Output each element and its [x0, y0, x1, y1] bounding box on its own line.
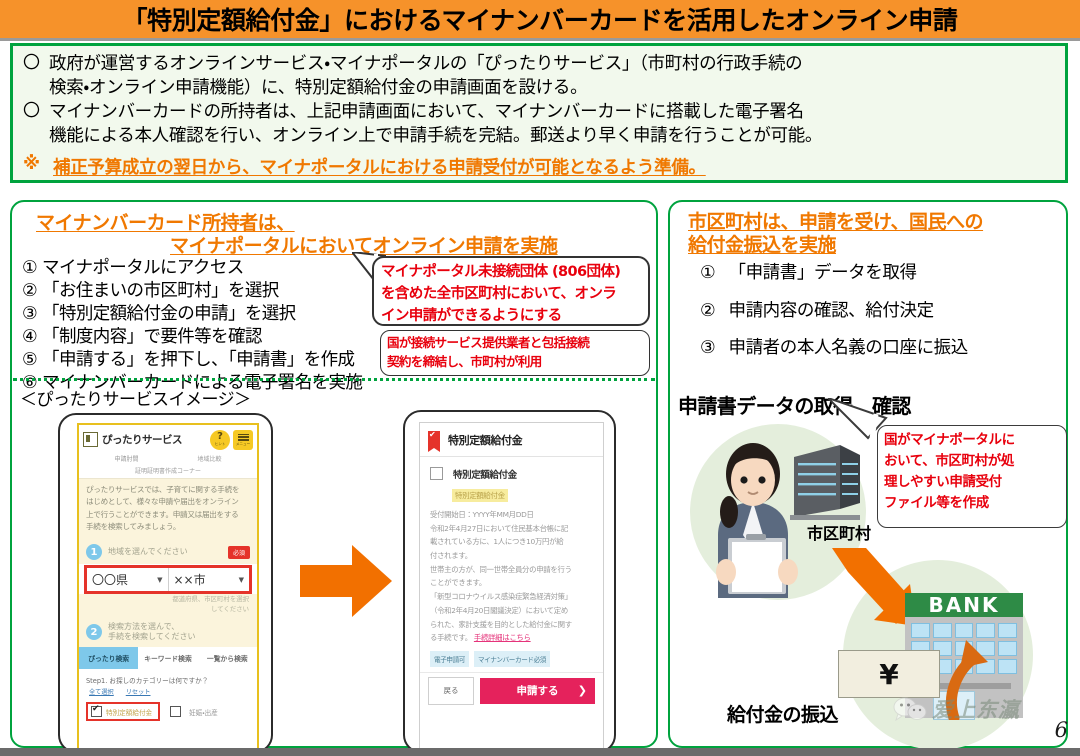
description-line: （令和2年4月20日閣議決定）において定め	[430, 604, 594, 618]
intro-line: 上で行うことができます。申請又は届出をする	[86, 509, 250, 521]
city-hall-label: 市区町村	[807, 520, 871, 544]
phone-mockup-search: ぴったりサービス ? ヒント メニュー 申請肘間 地域比較 証明証明書作成コーナ…	[58, 413, 273, 753]
bullet-body: マイナンバーカードの所持者は、上記申請画面において、マイナンバーカードに搭載した…	[49, 100, 1057, 148]
bullet-mark: 〇	[23, 100, 49, 123]
bank-window	[998, 659, 1017, 674]
bottom-bar	[0, 748, 1080, 756]
step-2-label: 検索方法を選んで、 手続を検索してください	[108, 622, 250, 642]
step-1-label: 地域を選んでください	[108, 547, 228, 557]
submit-button[interactable]: 申請する ❯	[480, 678, 595, 704]
app-logo-icon	[83, 432, 98, 447]
application-item-row[interactable]: 特別定額給付金	[420, 457, 603, 483]
description-line: られた、家計支援を目的とした給付金に関す	[430, 618, 594, 632]
phone-a-header: ぴったりサービス ? ヒント メニュー	[79, 425, 257, 452]
wechat-logo-icon	[893, 697, 927, 721]
search-tabs[interactable]: ぴったり検索 キーワード検索 一覧から検索	[79, 647, 257, 669]
breadcrumb-item[interactable]: 申請肘間	[114, 454, 138, 463]
callout-unconnected-orgs: マイナポータル未接続団体 (806団体) を含めた全市区町村において、オンラ イ…	[372, 256, 650, 326]
callout-line: ファイル等を作成	[884, 493, 1060, 514]
illustration-callout: 国がマイナポータルに おいて、市区町村が処 理しやすい申請受付 ファイル等を作成	[877, 425, 1067, 528]
step-text: 「申請書」データを取得	[728, 263, 916, 283]
bank-window	[933, 623, 952, 638]
callout-line: イン申請ができるようにする	[381, 306, 641, 328]
category-label-maternity: 妊娠・出産	[189, 707, 218, 717]
category-checkbox-row: 特別定額給付金 妊娠・出産	[79, 700, 257, 723]
bank-sign: BANK	[905, 593, 1023, 617]
service-image-label: ＜ぴったりサービスイメージ＞	[20, 385, 251, 410]
title-divider	[0, 38, 1080, 41]
intro-line: ぴったりサービスでは、子育てに関する手続を	[86, 484, 250, 496]
summary-note: ※ 補正予算成立の翌日から、マイナポータルにおける申請受付が可能となるよう準備。	[23, 154, 1057, 179]
chevron-down-icon: ▼	[239, 576, 244, 584]
callout-line: 理しやすい申請受付	[884, 472, 1060, 493]
summary-bullet: 〇 政府が運営するオンラインサービス・マイナポータルの「ぴったりサービス」（市町…	[23, 52, 1057, 100]
description-line: 令和2年4月27日において住民基本台帳に記	[430, 522, 594, 536]
application-item-tag: 特別定額給付金	[452, 489, 508, 502]
prefecture-select[interactable]: 〇〇県 ▼	[87, 568, 169, 591]
phone-b-title: 特別定額給付金	[448, 432, 522, 448]
right-panel-heading-line2: 給付金振込を実施	[688, 230, 836, 257]
bullet-line-text: 機能による本人確認を行い、オンライン上で申請手続を完結。郵送より早く申請を行うこ…	[49, 124, 1057, 148]
city-select[interactable]: ××市 ▼	[169, 568, 250, 591]
tab-keyword-search[interactable]: キーワード検索	[138, 647, 197, 669]
callout-line: 契約を締結し、市町村が利用	[387, 352, 643, 371]
description-last-line: る手続です。 手続詳細はこちら	[430, 631, 594, 645]
details-link[interactable]: 手続詳細はこちら	[474, 633, 531, 642]
right-panel-step-list: ① 「申請書」データを取得 ② 申請内容の確認、給付決定 ③ 申請者の本人名義の…	[700, 265, 1060, 378]
phone-b-footer: 戻る 申請する ❯	[420, 672, 603, 712]
category-label-benefit: 特別定額給付金	[106, 707, 152, 717]
required-badge: 必須	[228, 546, 250, 559]
chip-mynumber-required: マイナンバーカード必須	[474, 651, 550, 667]
intro-text: ぴったりサービスでは、子育てに関する手続を はじめとして、様々な申請や届出をオン…	[79, 479, 257, 538]
callout-line: おいて、市区町村が処	[884, 451, 1060, 472]
bullet-line-text: 政府が運営するオンラインサービス・マイナポータルの「ぴったりサービス」（市町村の…	[49, 52, 1057, 76]
intro-line: はじめとして、様々な申請や届出をオンライン	[86, 496, 250, 508]
money-note-illustration: ¥	[838, 650, 940, 698]
hint-line: してください	[79, 605, 249, 615]
payment-transfer-label: 給付金の振込	[727, 700, 838, 727]
bullet-mark: 〇	[23, 52, 49, 75]
menu-button[interactable]: メニュー	[233, 430, 253, 450]
step-text: 申請内容の確認、給付決定	[728, 301, 933, 321]
bank-window	[955, 623, 974, 638]
category-step-label: Step1. お探しのカテゴリーは何ですか？	[79, 669, 257, 687]
checkbox-checked-icon[interactable]	[91, 706, 102, 717]
summary-box: 〇 政府が運営するオンラインサービス・マイナポータルの「ぴったりサービス」（市町…	[10, 43, 1068, 183]
step-2-line: 検索方法を選んで、	[108, 622, 250, 632]
step-2-line: 手続を検索してください	[108, 632, 250, 642]
bank-window	[911, 623, 930, 638]
page-title: 「特別定額給付金」におけるマイナンバーカードを活用したオンライン申請	[123, 1, 958, 37]
description-line: ことができます。	[430, 576, 594, 590]
step-2-row: 2 検索方法を選んで、 手続を検索してください	[79, 617, 257, 647]
region-select-hint: 都道府県、市区町村を選択 してください	[79, 594, 257, 617]
note-text: 補正予算成立の翌日から、マイナポータルにおける申請受付が可能となるよう準備。	[53, 154, 1057, 179]
list-item: ① 「申請書」データを取得	[700, 265, 1060, 283]
step-1-row: 1 地域を選んでください 必須	[79, 538, 257, 564]
step-2-number: 2	[86, 624, 102, 640]
step-number: ①	[700, 263, 715, 283]
bank-window	[998, 623, 1017, 638]
checkbox-unchecked-icon[interactable]	[430, 467, 443, 480]
description-line: 「新型コロナウイルス感染症緊急経済対策」	[430, 590, 594, 604]
callout-line: を含めた全市区町村において、オンラ	[381, 284, 641, 306]
hint-button[interactable]: ? ヒント	[210, 430, 230, 450]
bullet-line-text: 検索・オンライン申請機能）に、特別定額給付金の申請画面を設ける。	[49, 76, 1057, 100]
hint-line: 都道府県、市区町村を選択	[79, 595, 249, 605]
staff-person-illustration	[698, 440, 808, 600]
breadcrumb[interactable]: 申請肘間 地域比較	[79, 452, 257, 465]
note-mark: ※	[23, 154, 53, 174]
flow-arrow-right-icon	[300, 545, 392, 617]
description-line: 受付開始日：YYYY年MM月DD日	[430, 508, 594, 522]
phone-b-screen: 特別定額給付金 特別定額給付金 特別定額給付金 受付開始日：YYYY年MM月DD…	[419, 422, 604, 752]
chevron-right-icon: ❯	[578, 684, 587, 697]
application-item-title: 特別定額給付金	[453, 467, 517, 481]
back-button[interactable]: 戻る	[428, 677, 474, 705]
breadcrumb-item[interactable]: 地域比較	[197, 454, 221, 463]
phone-b-header: 特別定額給付金	[420, 423, 603, 457]
list-item: ② 申請内容の確認、給付決定	[700, 303, 1060, 321]
reset-link[interactable]: リセット	[126, 687, 151, 696]
step-text: 申請者の本人名義の口座に振込	[728, 338, 967, 358]
menu-button-label: メニュー	[236, 443, 250, 447]
highlighted-category[interactable]: 特別定額給付金	[86, 702, 160, 721]
step-number: ③	[700, 338, 715, 358]
callout-line: 国がマイナポータルに	[884, 430, 1060, 451]
page-number: 6	[1055, 718, 1068, 742]
slide-root: 「特別定額給付金」におけるマイナンバーカードを活用したオンライン申請 〇 政府が…	[0, 0, 1080, 756]
yen-symbol-icon: ¥	[879, 658, 898, 691]
description-line: 載されている方に、1人につき10万円が給	[430, 535, 594, 549]
tab-pittari-search[interactable]: ぴったり検索	[79, 647, 138, 669]
slide-title-bar: 「特別定額給付金」におけるマイナンバーカードを活用したオンライン申請	[0, 0, 1080, 38]
callout-line: マイナポータル未接続団体 (806団体)	[381, 262, 641, 284]
hamburger-icon	[238, 432, 249, 442]
flow-arrow-diagonal-icon	[826, 548, 916, 628]
description-line: 付されます。	[430, 549, 594, 563]
application-chips: 電子申請可 マイナンバーカード必須	[420, 645, 603, 672]
left-panel-divider	[13, 378, 655, 381]
bookmark-ribbon-icon	[428, 431, 440, 448]
prefecture-value: 〇〇県	[92, 571, 128, 588]
bank-window	[976, 623, 995, 638]
chip-online-available: 電子申請可	[430, 651, 469, 667]
app-title: ぴったりサービス	[102, 432, 207, 447]
bank-window	[998, 641, 1017, 656]
list-item: ③ 申請者の本人名義の口座に振込	[700, 340, 1060, 358]
city-value: ××市	[174, 571, 206, 588]
select-all-link[interactable]: 全て選択	[89, 687, 114, 696]
callout-connection-contract: 国が接続サービス提供業者と包括接続 契約を締結し、市町村が利用	[380, 330, 650, 376]
bullet-body: 政府が運営するオンラインサービス・マイナポータルの「ぴったりサービス」（市町村の…	[49, 52, 1057, 100]
submit-button-label: 申請する	[517, 683, 559, 698]
region-select-group[interactable]: 〇〇県 ▼ ××市 ▼	[84, 565, 252, 594]
step-1-number: 1	[86, 544, 102, 560]
watermark: 爱上东瀛	[893, 694, 1020, 724]
description-line: る手続です。	[430, 633, 472, 642]
intro-line: 手続を検索してみましょう。	[86, 521, 250, 533]
description-line: 世帯主の方が、同一世帯全員分の申請を行う	[430, 563, 594, 577]
step-number: ②	[700, 301, 715, 321]
bullet-line-text: マイナンバーカードの所持者は、上記申請画面において、マイナンバーカードに搭載した…	[49, 100, 1057, 124]
breadcrumb-secondary[interactable]: 証明証明書作成コーナー	[79, 465, 257, 479]
question-mark-icon: ?	[217, 432, 223, 442]
callout-line: 国が接続サービス提供業者と包括接続	[387, 333, 643, 352]
watermark-text: 爱上东瀛	[932, 694, 1020, 724]
phone-mockup-application: 特別定額給付金 特別定額給付金 特別定額給付金 受付開始日：YYYY年MM月DD…	[403, 410, 616, 753]
application-description: 受付開始日：YYYY年MM月DD日 令和2年4月27日において住民基本台帳に記 …	[420, 502, 603, 645]
chevron-down-icon: ▼	[157, 576, 162, 584]
phone-a-screen: ぴったりサービス ? ヒント メニュー 申請肘間 地域比較 証明証明書作成コーナ…	[77, 423, 259, 753]
checkbox-unchecked-icon[interactable]	[170, 706, 181, 717]
hint-button-label: ヒント	[215, 443, 226, 447]
category-actions[interactable]: 全て選択 リセット	[79, 687, 257, 700]
tab-list-search[interactable]: 一覧から検索	[198, 647, 257, 669]
summary-bullet: 〇 マイナンバーカードの所持者は、上記申請画面において、マイナンバーカードに搭載…	[23, 100, 1057, 148]
